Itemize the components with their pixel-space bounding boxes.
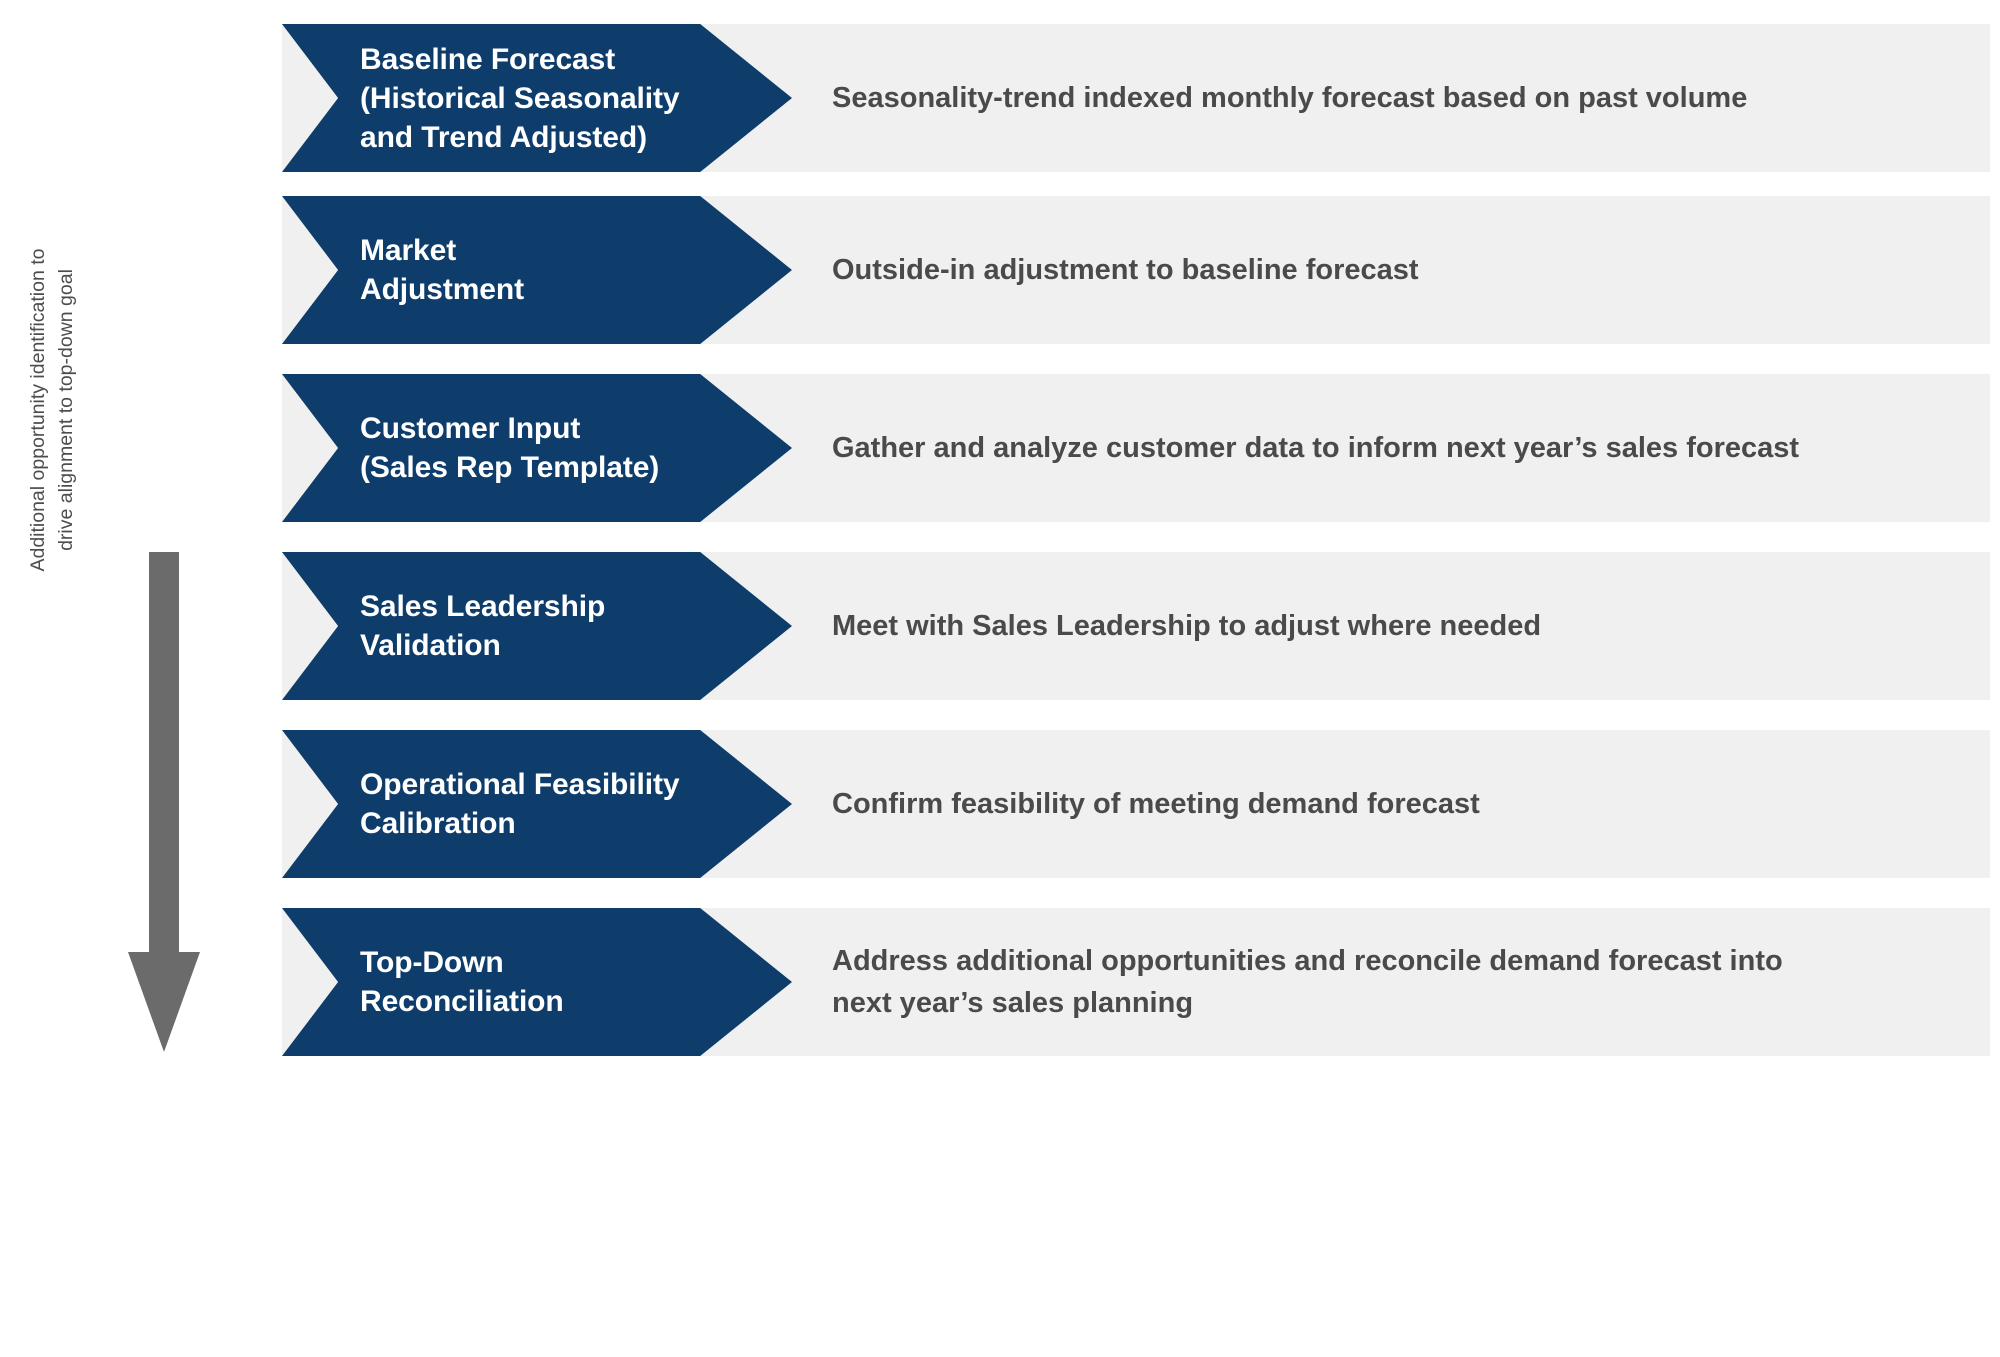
step-description: Meet with Sales Leadership to adjust whe… [832, 552, 1960, 700]
step-chevron-customer-input[interactable]: Customer Input (Sales Rep Template) [282, 374, 792, 522]
process-step-row: Operational Feasibility Calibration Conf… [0, 730, 2000, 878]
step-chevron-label: Baseline Forecast (Historical Seasonalit… [282, 40, 693, 157]
step-description: Address additional opportunities and rec… [832, 908, 1960, 1056]
step-label-line: (Sales Rep Template) [360, 448, 659, 487]
process-step-row: Top-Down Reconciliation Address addition… [0, 908, 2000, 1056]
step-description: Seasonality-trend indexed monthly foreca… [832, 24, 1960, 172]
step-label-line: Adjustment [360, 270, 524, 309]
step-description-line: next year’s sales planning [832, 982, 1783, 1024]
step-chevron-label: Operational Feasibility Calibration [282, 765, 693, 843]
step-description-line: Outside-in adjustment to baseline foreca… [832, 249, 1419, 291]
step-description: Confirm feasibility of meeting demand fo… [832, 730, 1960, 878]
process-step-row: Market Adjustment Outside-in adjustment … [0, 196, 2000, 344]
step-chevron-operational-feasibility-calibration[interactable]: Operational Feasibility Calibration [282, 730, 792, 878]
process-step-row: Sales Leadership Validation Meet with Sa… [0, 552, 2000, 700]
process-step-row: Customer Input (Sales Rep Template) Gath… [0, 374, 2000, 522]
step-chevron-market-adjustment[interactable]: Market Adjustment [282, 196, 792, 344]
step-chevron-baseline-forecast[interactable]: Baseline Forecast (Historical Seasonalit… [282, 24, 792, 172]
step-label-line: Sales Leadership [360, 587, 605, 626]
step-description-line: Confirm feasibility of meeting demand fo… [832, 783, 1480, 825]
step-description-line: Gather and analyze customer data to info… [832, 427, 1799, 469]
step-label-line: (Historical Seasonality [360, 79, 679, 118]
step-label-line: Validation [360, 626, 605, 665]
step-chevron-sales-leadership-validation[interactable]: Sales Leadership Validation [282, 552, 792, 700]
step-description: Outside-in adjustment to baseline foreca… [832, 196, 1960, 344]
step-label-line: Top-Down [360, 943, 564, 982]
process-step-row: Baseline Forecast (Historical Seasonalit… [0, 24, 2000, 172]
step-description-line: Seasonality-trend indexed monthly foreca… [832, 77, 1747, 119]
step-label-line: Reconciliation [360, 982, 564, 1021]
step-label-line: Market [360, 231, 524, 270]
step-description: Gather and analyze customer data to info… [832, 374, 1960, 522]
step-label-line: and Trend Adjusted) [360, 118, 679, 157]
step-chevron-label: Customer Input (Sales Rep Template) [282, 409, 673, 487]
step-label-line: Operational Feasibility [360, 765, 679, 804]
step-label-line: Baseline Forecast [360, 40, 679, 79]
step-description-line: Address additional opportunities and rec… [832, 940, 1783, 982]
step-description-line: Meet with Sales Leadership to adjust whe… [832, 605, 1541, 647]
step-label-line: Calibration [360, 804, 679, 843]
step-label-line: Customer Input [360, 409, 659, 448]
step-chevron-top-down-reconciliation[interactable]: Top-Down Reconciliation [282, 908, 792, 1056]
process-flow-diagram: Additional opportunity identification to… [0, 0, 2000, 1357]
